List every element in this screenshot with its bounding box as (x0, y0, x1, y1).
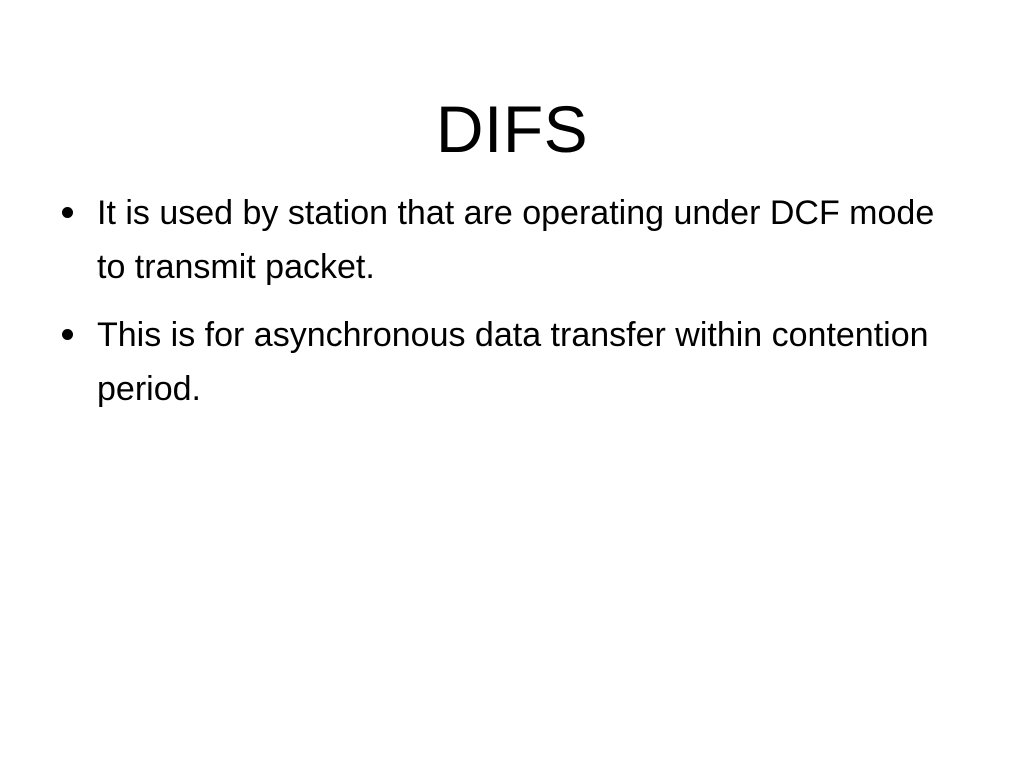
list-item-text: This is for asynchronous data transfer w… (97, 308, 944, 416)
presentation-slide: DIFS It is used by station that are oper… (0, 0, 1024, 768)
list-item: It is used by station that are operating… (56, 186, 944, 294)
page-title: DIFS (0, 96, 1024, 162)
bullet-dot-icon (62, 186, 82, 240)
bullet-list: It is used by station that are operating… (56, 186, 944, 416)
bullet-dot-icon (62, 308, 82, 362)
list-item-text: It is used by station that are operating… (97, 186, 944, 294)
list-item: This is for asynchronous data transfer w… (56, 308, 944, 416)
slide-body: It is used by station that are operating… (56, 186, 944, 416)
